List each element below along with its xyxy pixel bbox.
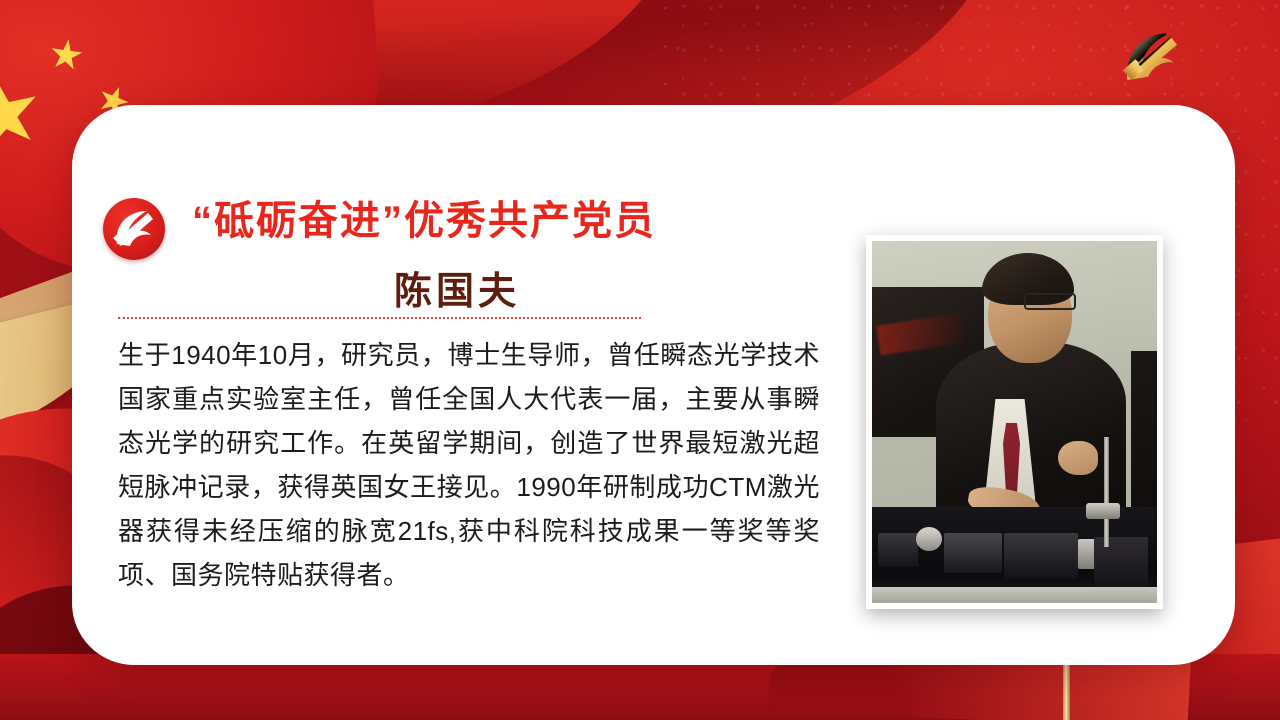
slide-canvas: “砥砺奋进”优秀共产党员 陈国夫 生于1940年10月，研究员，博士生导师，曾任… [0, 0, 1280, 720]
photo-equipment-1 [878, 533, 918, 567]
photo-hand-right [1058, 441, 1098, 475]
photo-equipment-clamp [1086, 503, 1120, 519]
biography-text: 生于1940年10月，研究员，博士生导师，曾任瞬态光学技术国家重点实验室主任，曾… [118, 333, 820, 597]
photo-equipment-post [1104, 437, 1109, 547]
photo-table-surface [872, 587, 1157, 603]
photo-equipment-lens [916, 527, 942, 551]
flag-star-small-1 [48, 37, 84, 73]
photo-optical-bench [872, 507, 1157, 603]
photo-equipment-2 [944, 533, 1002, 573]
page-title: “砥砺奋进”优秀共产党员 [192, 198, 812, 244]
portrait-photo-frame [866, 235, 1163, 609]
flag-star-large [0, 71, 47, 159]
dotted-divider [118, 317, 641, 319]
content-card: “砥砺奋进”优秀共产党员 陈国夫 生于1940年10月，研究员，博士生导师，曾任… [72, 105, 1235, 665]
photo-equipment-5 [1094, 537, 1148, 593]
hammer-sickle-icon [103, 198, 165, 260]
person-name: 陈国夫 [192, 260, 722, 315]
hammer-sickle-gold-icon [1112, 24, 1194, 96]
photo-glasses [1024, 293, 1076, 310]
portrait-photo [872, 241, 1157, 603]
photo-equipment-3 [1004, 533, 1078, 579]
